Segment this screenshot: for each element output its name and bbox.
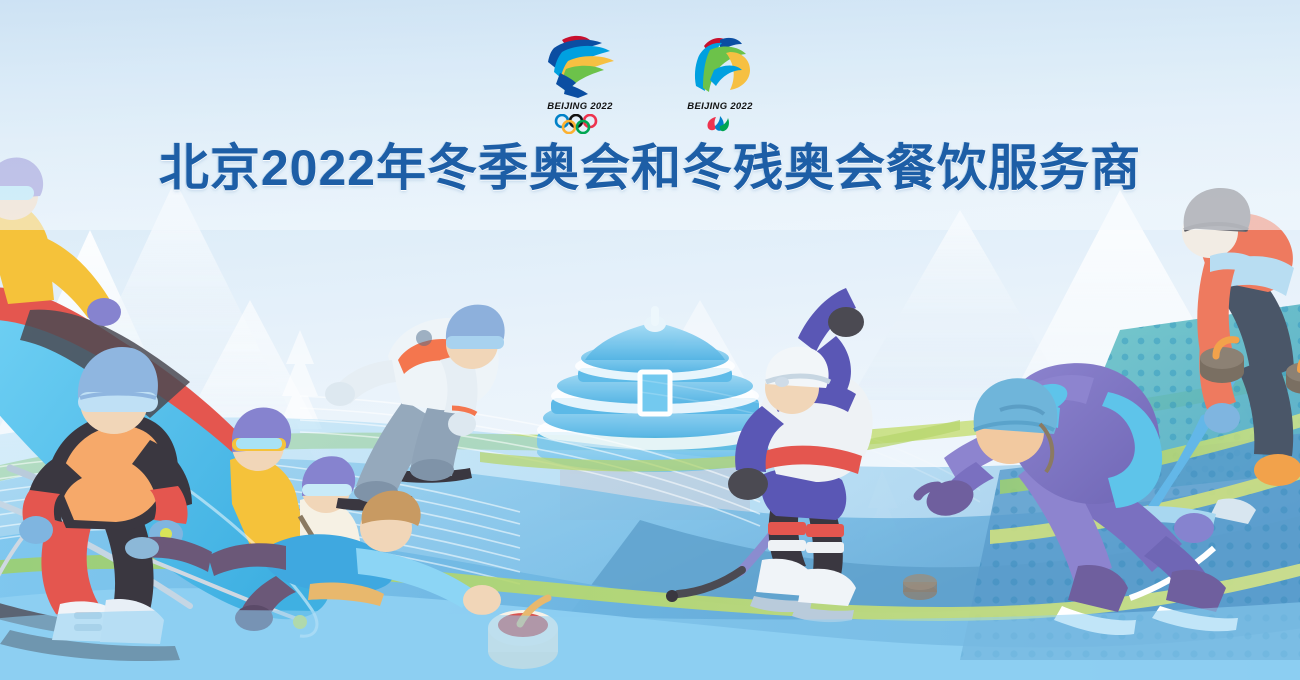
paralympic-agitos-icon [672, 114, 768, 134]
curling-stone-bottom-right [903, 574, 937, 600]
emblem-row: BEIJING 2022 BEIJING 2022 [0, 28, 1300, 128]
beijing-2022-paralympic-emblem: BEIJING 2022 [672, 28, 768, 128]
olympic-rings-icon [532, 114, 628, 134]
paralympic-ribbon-mark [672, 28, 768, 100]
page-title: 北京2022年冬季奥会和冬残奥会餐饮服务商 [0, 143, 1300, 193]
olympic-banner: BEIJING 2022 BEIJING 2022 [0, 0, 1300, 680]
olympic-ribbon-mark [532, 28, 628, 100]
beijing-2022-olympic-emblem: BEIJING 2022 [532, 28, 628, 128]
olympic-wordmark: BEIJING 2022 [532, 101, 628, 112]
paralympic-wordmark: BEIJING 2022 [672, 101, 768, 112]
